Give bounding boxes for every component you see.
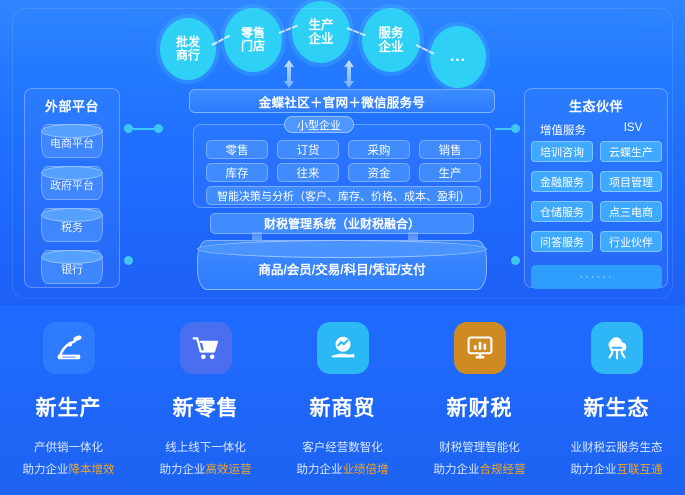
right-item-yundie-production[interactable]: 云蝶生产	[600, 141, 662, 162]
feature-desc-prefix: 助力企业	[571, 464, 617, 476]
isv-header: ISV	[600, 122, 666, 134]
feature-title: 新商贸	[310, 392, 376, 422]
feature-card-new-commerce[interactable]: 新商贸 客户经营数智化 助力企业业绩倍增	[274, 305, 411, 495]
bubble-wholesale[interactable]: 批发 商行	[160, 18, 216, 80]
bubble-retail-store[interactable]: 零售 门店	[224, 8, 282, 72]
feature-desc-highlight: 高效运营	[206, 464, 252, 476]
feature-desc-highlight: 降本增效	[69, 464, 115, 476]
feature-desc-highlight: 互联互通	[617, 464, 663, 476]
bubble-label-line2: 门店	[241, 40, 265, 53]
left-item-ecommerce[interactable]: 电商平台	[41, 124, 103, 158]
right-item-diansan-ecommerce[interactable]: 点三电商	[600, 201, 662, 222]
center-item-label: 往来	[297, 165, 320, 181]
feature-desc-line2: 助力企业互联互通	[571, 461, 663, 477]
feature-card-new-retail[interactable]: 新零售 线上线下一体化 助力企业高效运营	[137, 305, 274, 495]
center-item-purchase[interactable]: 采购	[348, 140, 410, 159]
left-item-tax[interactable]: 税务	[41, 208, 103, 242]
feature-desc-prefix: 助力企业	[434, 464, 480, 476]
feature-desc-line2: 助力企业合规经营	[434, 461, 526, 477]
center-item-label: 采购	[368, 142, 391, 158]
feature-card-new-production[interactable]: 新生产 产供销一体化 助力企业降本增效	[0, 305, 137, 495]
connector-dot-left-c	[124, 256, 133, 265]
center-item-label: 库存	[226, 165, 249, 181]
right-item-project-management[interactable]: 项目管理	[600, 171, 662, 192]
feature-desc-line1: 客户经营数智化	[302, 439, 383, 455]
right-item-industry-partner[interactable]: 行业伙伴	[600, 231, 662, 252]
feature-title: 新财税	[447, 392, 513, 422]
feature-desc-highlight: 业绩倍增	[343, 464, 389, 476]
bubble-manufacturing[interactable]: 生产 企业	[292, 1, 350, 63]
bubble-label-line2: 企业	[378, 40, 403, 54]
right-item-label: 点三电商	[609, 204, 653, 220]
feature-desc-line2: 助力企业降本增效	[23, 461, 115, 477]
bidirectional-arrow-right	[343, 60, 355, 88]
center-item-inventory[interactable]: 库存	[206, 163, 268, 182]
feature-title: 新零售	[173, 392, 239, 422]
center-item-retail[interactable]: 零售	[206, 140, 268, 159]
feature-desc-line2: 助力企业高效运营	[160, 461, 252, 477]
right-item-more[interactable]: ······	[531, 265, 662, 289]
center-item-order[interactable]: 订货	[277, 140, 339, 159]
feature-desc-line1: 线上线下一体化	[165, 439, 246, 455]
right-item-label: 培训咨询	[540, 144, 584, 160]
intelligent-analysis-bar[interactable]: 智能决策与分析（客户、库存、价格、成本、盈利）	[206, 186, 481, 205]
right-item-label: 仓储服务	[540, 204, 584, 220]
feature-desc-prefix: 助力企业	[297, 464, 343, 476]
ecosystem-partner-title: 生态伙伴	[524, 96, 668, 115]
left-item-government[interactable]: 政府平台	[41, 166, 103, 200]
feature-desc-highlight: 合规经营	[480, 464, 526, 476]
left-item-label: 政府平台	[50, 177, 94, 193]
bidirectional-arrow-left	[283, 60, 295, 88]
right-item-warehouse-service[interactable]: 仓储服务	[531, 201, 593, 222]
center-item-sales[interactable]: 销售	[419, 140, 481, 159]
left-item-label: 电商平台	[50, 135, 94, 151]
center-item-funds[interactable]: 资金	[348, 163, 410, 182]
bubble-more[interactable]: ...	[430, 26, 486, 88]
data-store-label: 商品/会员/交易/科目/凭证/支付	[258, 259, 425, 278]
feature-title: 新生产	[36, 392, 102, 422]
right-item-label: 问答服务	[540, 234, 584, 250]
connector-dot-right-b	[511, 256, 520, 265]
bubble-service[interactable]: 服务 企业	[362, 8, 420, 72]
feature-card-new-ecosystem[interactable]: 新生态 业财税云服务生态 助力企业互联互通	[548, 305, 685, 495]
robot-arm-icon	[43, 322, 95, 374]
center-item-label: 销售	[439, 142, 462, 158]
right-item-training[interactable]: 培训咨询	[531, 141, 593, 162]
small-enterprise-tag-label: 小型企业	[297, 117, 341, 133]
connector-dot-left-b	[154, 124, 163, 133]
hand-chart-icon	[317, 322, 369, 374]
left-item-label: 银行	[61, 261, 83, 277]
feature-desc-line1: 业财税云服务生态	[571, 439, 663, 455]
bubble-label-line2: 商行	[176, 49, 200, 62]
right-item-label: 金融服务	[540, 174, 584, 190]
bubble-label-line2: 企业	[308, 32, 333, 46]
feature-desc-line2: 助力企业业绩倍增	[297, 461, 389, 477]
feature-desc-prefix: 助力企业	[160, 464, 206, 476]
feature-card-new-finance-tax[interactable]: 新财税 财税管理智能化 助力企业合规经营	[411, 305, 548, 495]
right-item-label: 云蝶生产	[609, 144, 653, 160]
center-item-label: 零售	[226, 142, 249, 158]
right-item-label: 行业伙伴	[609, 234, 653, 250]
bubble-label-line1: ...	[450, 48, 466, 66]
feature-strip: 新生产 产供销一体化 助力企业降本增效 新零售 线上线下一体化 助力企业高效运营	[0, 305, 685, 495]
bubble-label-line1: 批发	[176, 36, 200, 49]
center-item-production[interactable]: 生产	[419, 163, 481, 182]
community-header-bar[interactable]: 金蝶社区＋官网＋微信服务号	[189, 89, 495, 113]
feature-desc-line1: 产供销一体化	[34, 439, 103, 455]
community-header-label: 金蝶社区＋官网＋微信服务号	[259, 92, 425, 111]
feature-title: 新生态	[584, 392, 650, 422]
feature-desc-prefix: 助力企业	[23, 464, 69, 476]
intelligent-analysis-label: 智能决策与分析（客户、库存、价格、成本、盈利）	[217, 188, 470, 204]
center-item-label: 资金	[368, 165, 391, 181]
right-item-more-label: ······	[580, 271, 614, 283]
architecture-diagram: 批发 商行 零售 门店 生产 企业 服务 企业 ... 外部平台	[0, 0, 685, 305]
bubble-label-line1: 生产	[308, 18, 333, 32]
bubble-label-line1: 零售	[241, 27, 265, 40]
bubble-label-line1: 服务	[378, 26, 403, 40]
shopping-cart-icon	[180, 322, 232, 374]
small-enterprise-tag: 小型企业	[284, 116, 354, 133]
feature-desc-line1: 财税管理智能化	[439, 439, 520, 455]
external-platform-title: 外部平台	[24, 96, 120, 115]
bar-chart-monitor-icon	[454, 322, 506, 374]
center-item-label: 生产	[439, 165, 462, 181]
finance-tax-system-label: 财税管理系统（业财税融合）	[264, 215, 420, 232]
right-item-label: 项目管理	[609, 174, 653, 190]
data-store-cylinder[interactable]: 商品/会员/交易/科目/凭证/支付	[197, 240, 487, 290]
center-item-label: 订货	[297, 142, 320, 158]
right-item-qa-service[interactable]: 问答服务	[531, 231, 593, 252]
finance-tax-system-bar[interactable]: 财税管理系统（业财税融合）	[210, 213, 474, 234]
left-item-label: 税务	[61, 219, 83, 235]
left-item-bank[interactable]: 银行	[41, 250, 103, 284]
value-added-services-header: 增值服务	[530, 122, 596, 138]
right-item-finance-service[interactable]: 金融服务	[531, 171, 593, 192]
center-item-transactions[interactable]: 往来	[277, 163, 339, 182]
connector-line-right	[495, 128, 515, 130]
cloud-network-icon	[591, 322, 643, 374]
